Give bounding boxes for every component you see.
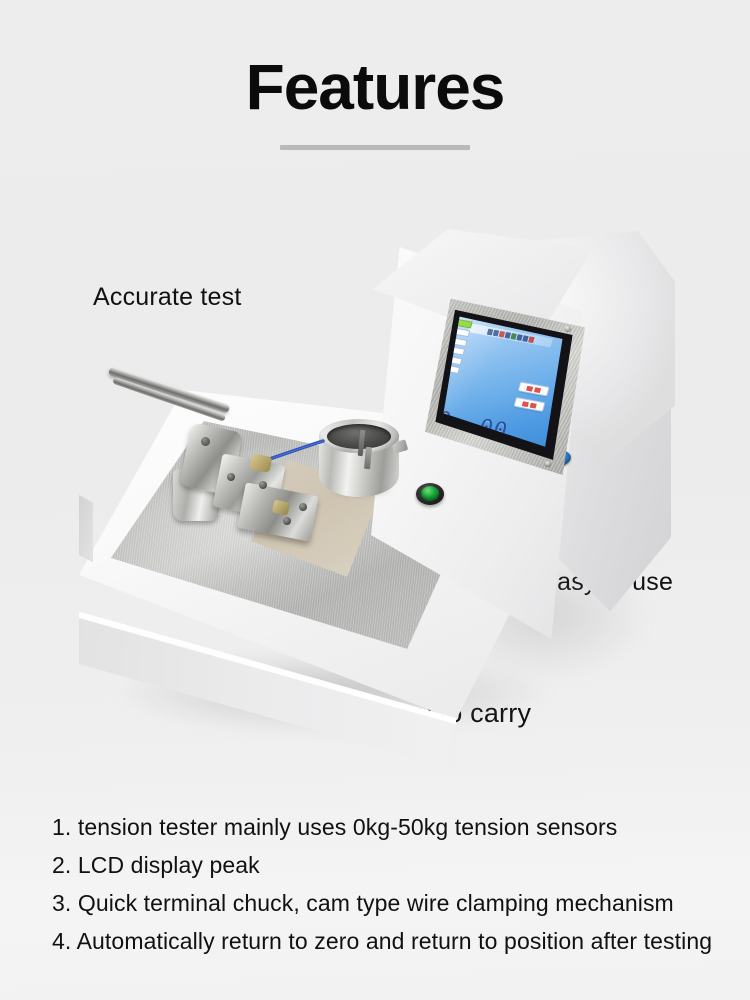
feature-item: 4. Automatically return to zero and retu… xyxy=(52,922,742,960)
feature-list: 1. tension tester mainly uses 0kg-50kg t… xyxy=(52,808,742,960)
cam-type-wire-clamp[interactable] xyxy=(155,445,345,585)
bezel-screw xyxy=(565,326,571,331)
lcd-button-primary[interactable] xyxy=(518,381,550,396)
bezel-screw xyxy=(545,461,551,466)
button-glyph xyxy=(522,401,529,407)
title-divider xyxy=(280,145,470,150)
power-button[interactable] xyxy=(421,486,439,501)
machine-base-left-face xyxy=(79,495,93,562)
clamp-lever-handle[interactable] xyxy=(108,366,231,413)
clamp-bolt xyxy=(227,473,235,481)
lcd-action-buttons xyxy=(513,381,549,412)
clamp-bolt xyxy=(259,481,267,489)
page-title: Features xyxy=(0,55,750,119)
button-glyph xyxy=(529,402,536,408)
control-console: 0. 00 xyxy=(365,223,665,643)
lcd-button-secondary[interactable] xyxy=(513,397,545,412)
button-glyph xyxy=(534,387,541,393)
clamp-bolt xyxy=(283,517,291,525)
clamp-bolt xyxy=(299,503,307,511)
pivot-hole xyxy=(201,437,210,446)
page-background: Features Accurate test easy to use Easy … xyxy=(0,0,750,1000)
feature-item: 1. tension tester mainly uses 0kg-50kg t… xyxy=(52,808,742,846)
button-glyph xyxy=(526,385,533,391)
feature-item: 3. Quick terminal chuck, cam type wire c… xyxy=(52,884,742,922)
product-photo: 0. 00 xyxy=(55,205,695,780)
feature-item: 2. LCD display peak xyxy=(52,846,742,884)
title-glyph xyxy=(528,336,535,343)
